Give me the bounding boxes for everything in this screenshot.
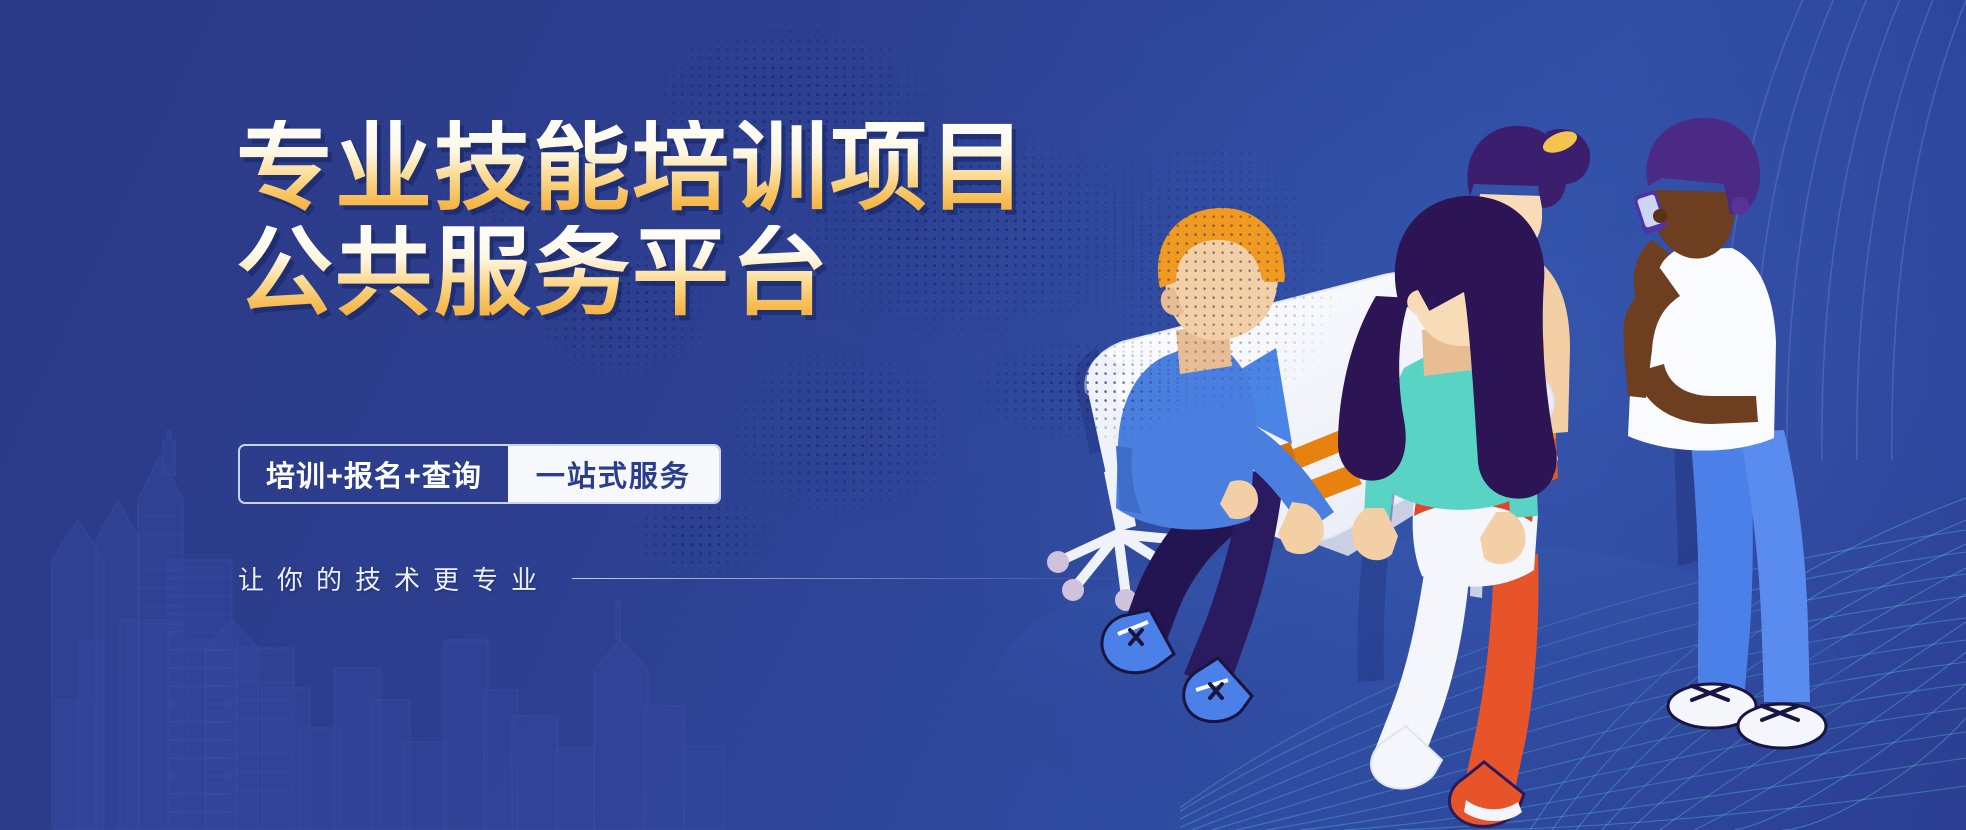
badge-segment-onestop: 一站式服务 — [508, 446, 719, 502]
promo-banner: 专业技能培训项目 公共服务平台 培训+报名+查询 一站式服务 让你的技术更专业 — [0, 0, 1966, 830]
headline-line-1: 专业技能培训项目 — [236, 120, 1028, 215]
page-title: 专业技能培训项目 公共服务平台 — [236, 120, 1028, 320]
tagline-text: 让你的技术更专业 — [238, 560, 550, 597]
badge-segment-features: 培训+报名+查询 — [240, 446, 508, 502]
tagline-divider — [572, 578, 1138, 579]
headline-line-2: 公共服务平台 — [236, 225, 1028, 320]
dot-matrix-secondary — [1050, 80, 1410, 500]
service-badge: 培训+报名+查询 一站式服务 — [238, 444, 721, 504]
tagline-row: 让你的技术更专业 — [238, 560, 1138, 597]
